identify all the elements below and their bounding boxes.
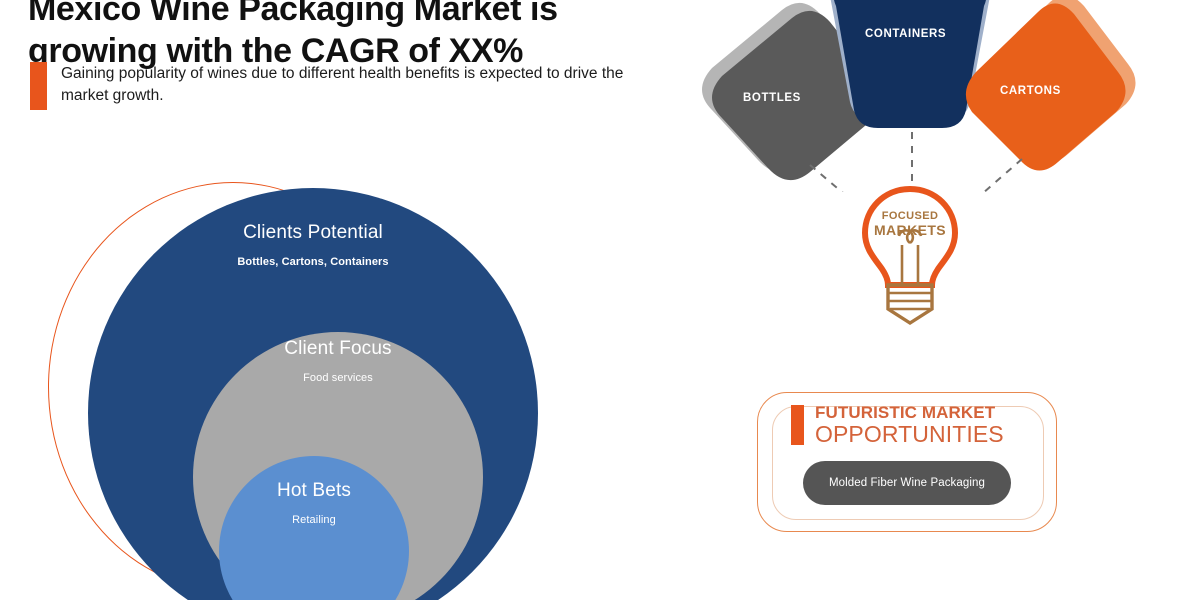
containers-shape (834, 0, 987, 128)
card-heading-block: FUTURISTIC MARKET OPPORTUNITIES (791, 403, 1004, 447)
shape-label-bottles: BOTTLES (743, 92, 801, 104)
futuristic-opportunities-card: FUTURISTIC MARKET OPPORTUNITIES Molded F… (757, 392, 1057, 532)
opportunity-pill[interactable]: Molded Fiber Wine Packaging (803, 461, 1011, 505)
shape-label-cartons: CARTONS (1000, 85, 1061, 97)
infographic-canvas: Mexico Wine Packaging Market is growing … (0, 0, 1200, 600)
nested-circles-diagram: Clients Potential Bottles, Cartons, Cont… (0, 150, 620, 600)
page-subtitle: Gaining popularity of wines due to diffe… (61, 62, 650, 107)
accent-bar-icon (30, 62, 47, 110)
opportunity-pill-label: Molded Fiber Wine Packaging (829, 477, 985, 489)
card-title-line2: OPPORTUNITIES (815, 422, 1004, 447)
focused-markets-bulb[interactable]: FOCUSED MARKETS (855, 183, 965, 333)
lightbulb-icon (855, 183, 965, 333)
category-shapes-group: BOTTLES CONTAINERS CARTONS (660, 0, 1180, 192)
card-title-line1: FUTURISTIC MARKET (815, 403, 1004, 422)
card-accent-bar-icon (791, 405, 804, 445)
shape-label-containers: CONTAINERS (865, 28, 946, 40)
subtitle-block: Gaining popularity of wines due to diffe… (30, 62, 650, 110)
